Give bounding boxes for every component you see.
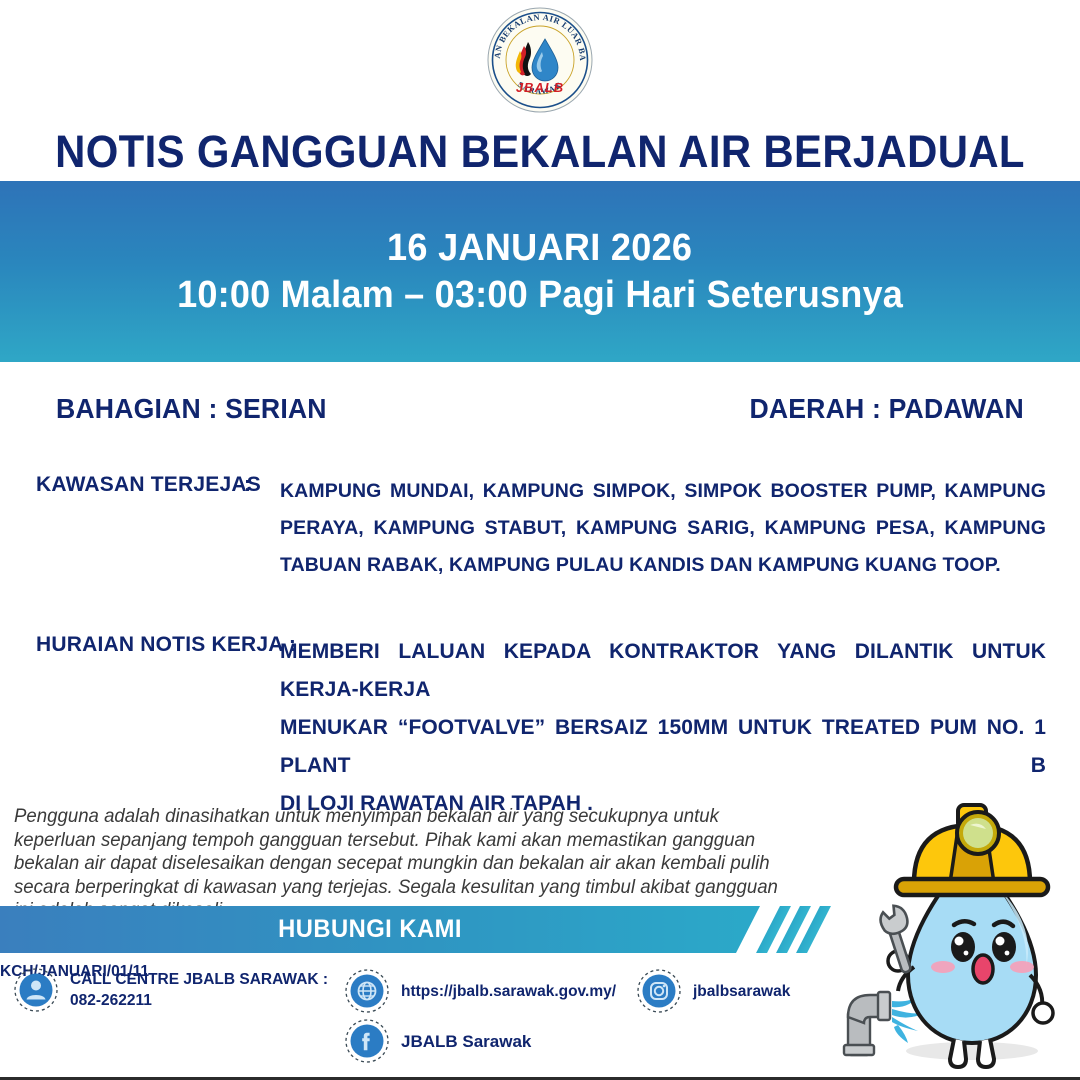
contact-banner: HUBUNGI KAMI bbox=[0, 906, 800, 953]
advisory-text: Pengguna adalah dinasihatkan untuk menyi… bbox=[14, 805, 788, 923]
jbalb-logo: JABATAN BEKALAN AIR LUAR BANDAR SARAWAK … bbox=[486, 6, 594, 114]
website-item[interactable]: https://jbalb.sarawak.gov.my/ bbox=[345, 969, 616, 1013]
page-title: NOTIS GANGGUAN BEKALAN AIR BERJADUAL bbox=[38, 126, 1042, 178]
affected-areas-colon: : bbox=[244, 473, 280, 497]
work-description-label: HURAIAN NOTIS KERJA : bbox=[0, 633, 280, 657]
person-icon bbox=[14, 968, 58, 1012]
work-description-line: MEMBERI LALUAN KEPADA KONTRAKTOR YANG DI… bbox=[280, 633, 1046, 709]
affected-areas-block: KAWASAN TERJEJAS : KAMPUNG MUNDAI, KAMPU… bbox=[0, 473, 1080, 584]
globe-icon bbox=[345, 969, 389, 1013]
notice-time-range: 10:00 Malam – 03:00 Pagi Hari Seterusnya bbox=[177, 274, 903, 317]
affected-areas-line: PERAYA, KAMPUNG STABUT, KAMPUNG SARIG, K… bbox=[280, 510, 1046, 547]
notice-date: 16 JANUARI 2026 bbox=[387, 227, 692, 270]
facebook-item[interactable]: JBALB Sarawak bbox=[345, 1019, 531, 1063]
work-description-line: MENUKAR “FOOTVALVE” BERSAIZ 150MM UNTUK … bbox=[280, 709, 1046, 785]
instagram-icon bbox=[637, 969, 681, 1013]
facebook-page[interactable]: JBALB Sarawak bbox=[401, 1031, 531, 1052]
svg-text:JBALB: JBALB bbox=[516, 80, 564, 95]
call-centre-text: CALL CENTRE JBALB SARAWAK : 082-262211 bbox=[70, 969, 328, 1011]
instagram-item[interactable]: jbalbsarawak bbox=[637, 969, 790, 1013]
call-centre-number: 082-262211 bbox=[70, 990, 328, 1011]
affected-areas-label: KAWASAN TERJEJAS bbox=[0, 473, 244, 497]
district-label: DAERAH : PADAWAN bbox=[750, 393, 1024, 425]
date-banner: 16 JANUARI 2026 10:00 Malam – 03:00 Pagi… bbox=[0, 181, 1080, 362]
website-url[interactable]: https://jbalb.sarawak.gov.my/ bbox=[401, 981, 616, 1002]
affected-areas-line: TABUAN RABAK, KAMPUNG PULAU KANDIS DAN K… bbox=[280, 547, 1046, 584]
division-label: BAHAGIAN : SERIAN bbox=[56, 393, 327, 425]
region-row: BAHAGIAN : SERIAN DAERAH : PADAWAN bbox=[0, 393, 1080, 425]
notice-poster: JABATAN BEKALAN AIR LUAR BANDAR SARAWAK … bbox=[0, 0, 1080, 1080]
facebook-icon bbox=[345, 1019, 389, 1063]
call-centre-item: CALL CENTRE JBALB SARAWAK : 082-262211 bbox=[14, 968, 328, 1012]
call-centre-label: CALL CENTRE JBALB SARAWAK : bbox=[70, 969, 328, 990]
water-droplet-worker-mascot bbox=[826, 789, 1078, 1071]
affected-areas-line: KAMPUNG MUNDAI, KAMPUNG SIMPOK, SIMPOK B… bbox=[280, 473, 1046, 510]
contact-banner-title: HUBUNGI KAMI bbox=[19, 906, 722, 953]
affected-areas-body: KAMPUNG MUNDAI, KAMPUNG SIMPOK, SIMPOK B… bbox=[280, 473, 1080, 584]
instagram-handle[interactable]: jbalbsarawak bbox=[693, 981, 790, 1002]
contact-details: CALL CENTRE JBALB SARAWAK : 082-262211 K… bbox=[0, 963, 840, 1073]
